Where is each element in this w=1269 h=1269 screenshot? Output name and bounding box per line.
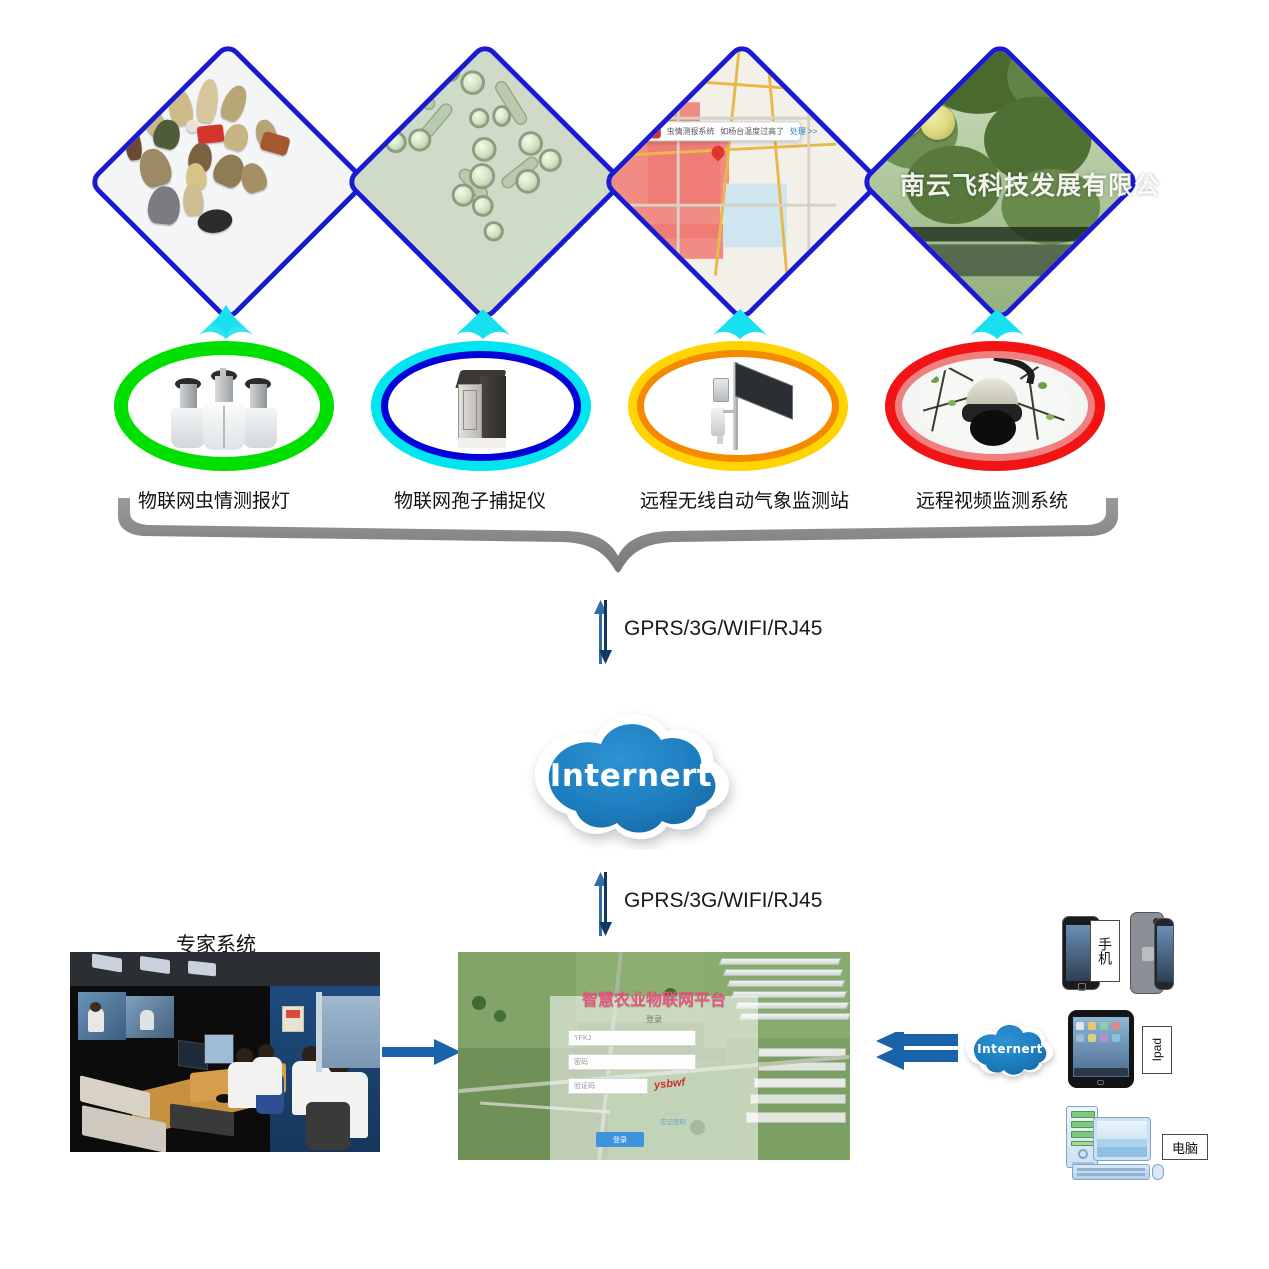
- diagram-canvas: 虫情测报系统 如杨台温度过高了 处理 >>: [0, 0, 1269, 1269]
- tablet-label: Ipad: [1150, 1038, 1164, 1061]
- alert-icon: [648, 125, 661, 138]
- dome-camera-icon: [920, 358, 1070, 454]
- tablet-label-box: Ipad: [1142, 1026, 1172, 1074]
- device-badge-insect-lamp[interactable]: [114, 341, 334, 471]
- flow-arrow-expert-to-platform: [382, 1036, 462, 1073]
- internet-cloud-main-label: Internert: [517, 758, 745, 794]
- sensor-image-insects: [128, 82, 328, 282]
- tablet-icon: [1068, 1010, 1134, 1088]
- insect-sample-photo: [90, 44, 366, 320]
- client-smartphone[interactable]: 手机: [1062, 912, 1174, 996]
- smartphone-label-box: 手机: [1090, 920, 1120, 982]
- map-alert-action[interactable]: 处理 >>: [790, 125, 817, 137]
- spore-collector-icon: [416, 360, 546, 452]
- uplink-label-bottom: GPRS/3G/WIFI/RJ45: [624, 889, 822, 913]
- cyan-up-arrow-3: [709, 305, 771, 339]
- forgot-password-link[interactable]: 忘记密码: [660, 1116, 686, 1126]
- expert-system-photo: [70, 952, 380, 1152]
- map-alert-photo: 虫情测报系统 如杨台温度过高了 处理 >>: [604, 44, 880, 320]
- cyan-up-arrow-2: [452, 305, 514, 339]
- sensor-image-map: 虫情测报系统 如杨台温度过高了 处理 >>: [642, 82, 842, 282]
- device-badge-dome-camera[interactable]: [885, 341, 1105, 471]
- username-field[interactable]: YFKJ: [568, 1030, 696, 1046]
- internet-cloud-small-label: Internert: [960, 1042, 1060, 1056]
- captcha-field[interactable]: 验证码: [568, 1078, 648, 1094]
- login-heading: 登录: [458, 1014, 850, 1025]
- password-field[interactable]: 密码: [568, 1054, 696, 1070]
- cyan-up-arrow-1: [195, 305, 257, 339]
- cyan-up-arrow-4: [966, 305, 1028, 339]
- weather-station-icon: [673, 360, 803, 452]
- map-alert-system-name: 虫情测报系统: [667, 125, 715, 137]
- device-badge-spore-collector[interactable]: [371, 341, 591, 471]
- aggregation-brace: [118, 498, 1118, 573]
- map-alert-message: 如杨台温度过高了: [720, 125, 784, 137]
- uplink-double-arrow-top: [590, 600, 616, 664]
- desktop-label: 电脑: [1172, 1138, 1198, 1157]
- login-submit-button[interactable]: 登录: [596, 1132, 644, 1147]
- client-desktop[interactable]: 电脑: [1066, 1106, 1208, 1182]
- uplink-label-top: GPRS/3G/WIFI/RJ45: [624, 617, 822, 641]
- client-tablet[interactable]: Ipad: [1068, 1010, 1198, 1088]
- platform-title: 智慧农业物联网平台: [458, 986, 850, 1010]
- uplink-double-arrow-bottom: [590, 872, 616, 936]
- company-watermark: 南云飞科技发展有限公: [900, 166, 1100, 202]
- desktop-label-box: 电脑: [1162, 1134, 1208, 1160]
- sensor-image-orchard: 南云飞科技发展有限公: [900, 82, 1100, 282]
- flow-arrow-cloud-to-platform: [876, 1032, 958, 1075]
- platform-screenshot: 智慧农业物联网平台 登录 YFKJ 密码 验证码 ysbwf 忘记密码 登录: [458, 952, 850, 1160]
- smartphone-label: 手机: [1095, 937, 1115, 965]
- map-alert-banner: 虫情测报系统 如杨台温度过高了 处理 >>: [639, 121, 801, 141]
- internet-cloud-small: Internert: [960, 1014, 1060, 1086]
- smartphone-side-icon: [1154, 918, 1174, 990]
- spore-microscope-photo: [347, 44, 623, 320]
- sensor-image-spores: [385, 82, 585, 282]
- internet-cloud-main: Internert: [517, 700, 745, 850]
- insect-lamp-icon: [159, 360, 289, 452]
- device-badge-weather-station[interactable]: [628, 341, 848, 471]
